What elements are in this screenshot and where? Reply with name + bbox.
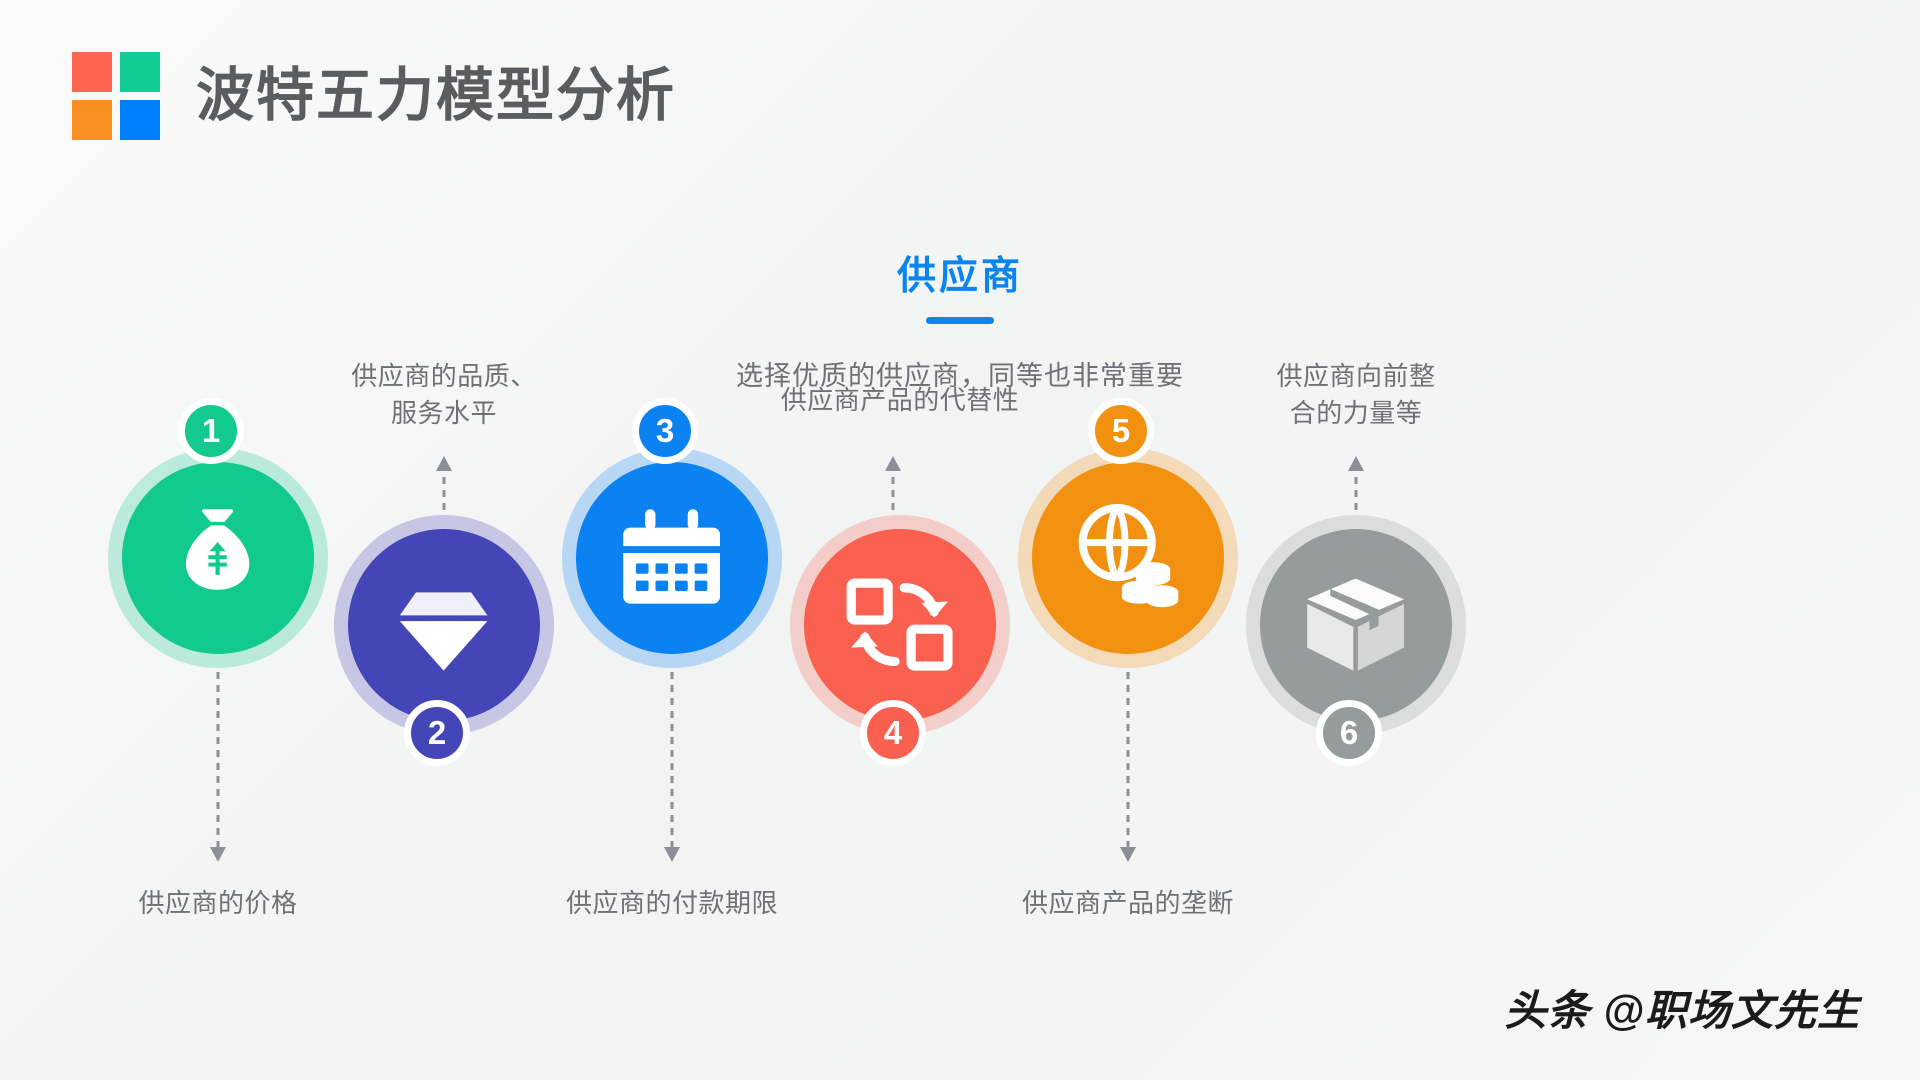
node-number-badge-3[interactable]: 3 [632, 398, 698, 464]
node-circle-3[interactable] [576, 462, 768, 654]
node-number-badge-5[interactable]: 5 [1088, 398, 1154, 464]
node-circle-4[interactable] [804, 529, 996, 721]
node-circle-6[interactable] [1260, 529, 1452, 721]
money-bag-icon [160, 500, 275, 615]
calendar-icon [614, 500, 729, 615]
node-circle-1[interactable] [122, 462, 314, 654]
node-circle-2[interactable] [348, 529, 540, 721]
box-icon [1298, 567, 1413, 682]
node-caption-6: 供应商向前整 合的力量等 [1146, 358, 1566, 432]
connector-arrow-5 [1116, 672, 1140, 862]
globe-coins-icon [1070, 500, 1185, 615]
connector-arrow-6 [1344, 456, 1368, 510]
node-caption-2: 供应商的品质、 服务水平 [234, 358, 654, 432]
connector-arrow-4 [881, 456, 905, 510]
node-caption-5: 供应商产品的垄断 [918, 885, 1338, 922]
watermark: 头条 @职场文先生 [1504, 977, 1860, 1038]
node-caption-3: 供应商的付款期限 [462, 885, 882, 922]
node-caption-4: 供应商产品的代替性 [690, 382, 1110, 419]
node-number-badge-1[interactable]: 1 [178, 398, 244, 464]
node-caption-1: 供应商的价格 [8, 885, 428, 922]
connector-arrow-1 [206, 672, 230, 862]
connector-arrow-2 [432, 456, 456, 510]
exchange-icon [842, 567, 957, 682]
node-number-badge-2[interactable]: 2 [404, 700, 470, 766]
connector-arrow-3 [660, 672, 684, 862]
node-number-badge-6[interactable]: 6 [1316, 700, 1382, 766]
five-forces-diagram: 供应商的价格1供应商的品质、 服务水平2供应商的付款期限3供应商产品的代替性4供… [0, 0, 1920, 1080]
diamond-icon [386, 567, 501, 682]
node-number-badge-4[interactable]: 4 [860, 700, 926, 766]
node-circle-5[interactable] [1032, 462, 1224, 654]
